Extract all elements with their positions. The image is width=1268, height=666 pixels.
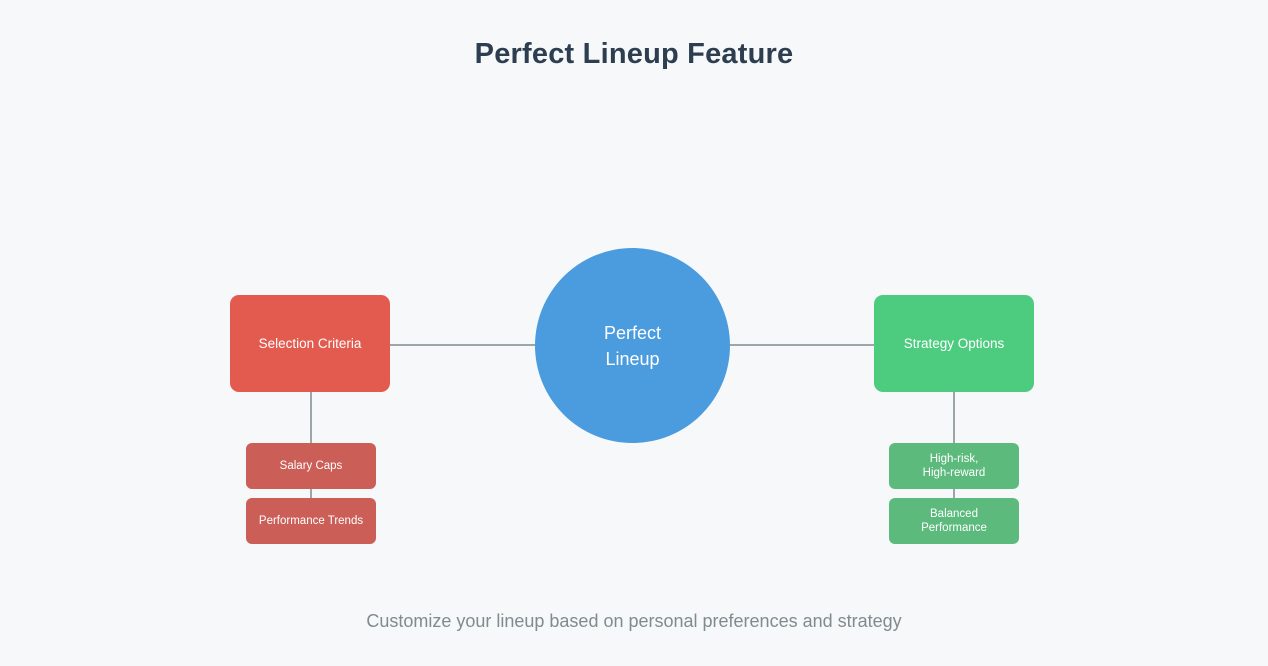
branch-node-selection-criteria[interactable]: Selection Criteria	[230, 295, 390, 392]
connector-hub-to-strategy-options	[730, 344, 874, 346]
branch-node-label: Strategy Options	[904, 335, 1005, 353]
leaf-node-label: High-risk, High-reward	[923, 452, 986, 480]
connector-hub-to-selection-criteria	[390, 344, 535, 346]
branch-node-label: Selection Criteria	[259, 335, 362, 353]
hub-node-label: Perfect Lineup	[604, 320, 661, 372]
branch-node-strategy-options[interactable]: Strategy Options	[874, 295, 1034, 392]
leaf-node-label: Performance Trends	[259, 514, 363, 528]
mind-map-diagram: Perfect Lineup Selection Criteria Salary…	[0, 0, 1268, 666]
leaf-node-performance-trends[interactable]: Performance Trends	[246, 498, 376, 544]
hub-node-perfect-lineup[interactable]: Perfect Lineup	[535, 248, 730, 443]
leaf-node-label: Balanced Performance	[921, 507, 987, 535]
page-root: Perfect Lineup Feature Perfect Lineup Se…	[0, 0, 1268, 666]
leaf-node-balanced-performance[interactable]: Balanced Performance	[889, 498, 1019, 544]
page-caption: Customize your lineup based on personal …	[0, 606, 1268, 636]
leaf-node-label: Salary Caps	[280, 459, 343, 473]
leaf-node-high-risk-high-reward[interactable]: High-risk, High-reward	[889, 443, 1019, 489]
leaf-node-salary-caps[interactable]: Salary Caps	[246, 443, 376, 489]
